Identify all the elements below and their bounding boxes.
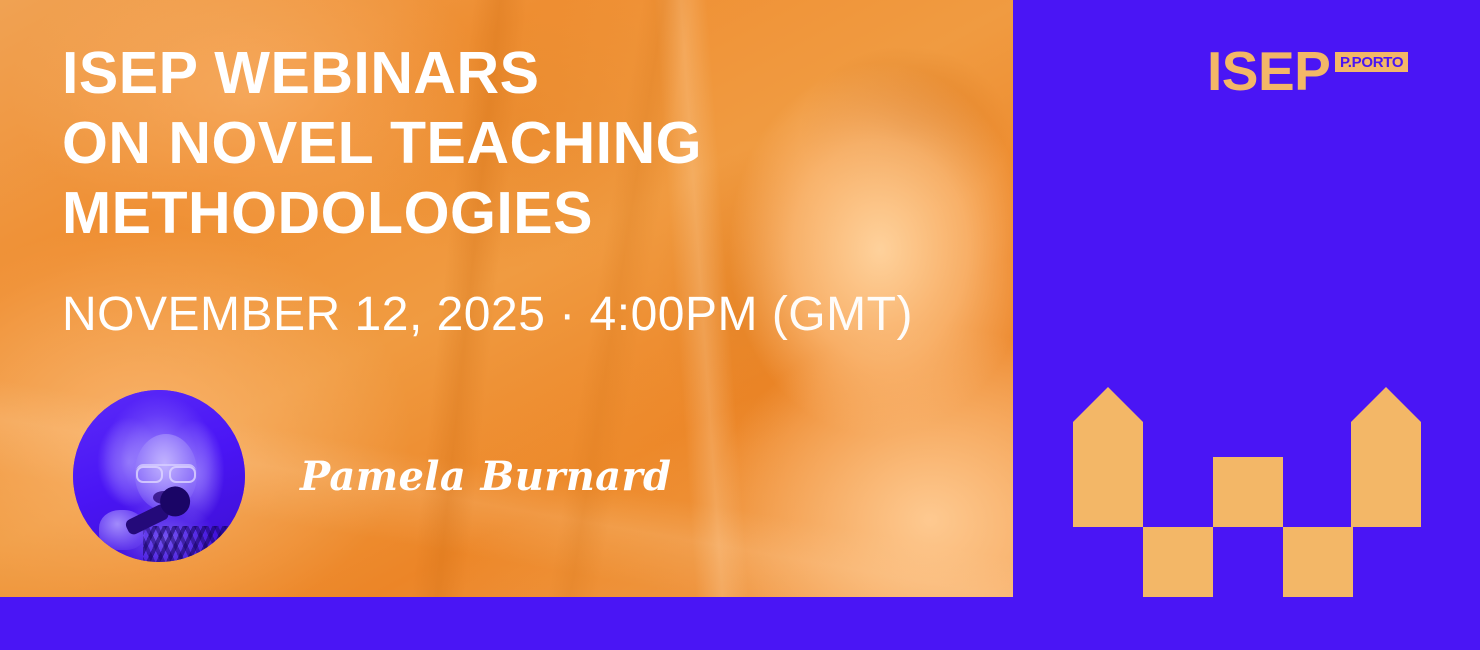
headline-line-1: ISEP WEBINARS [62,38,882,108]
bottom-bar [0,597,1013,650]
event-timezone: (GMT) [772,288,913,341]
avatar-garment-pattern [143,526,235,562]
avatar [73,390,245,562]
square-mid-top-shape [1213,457,1283,527]
page-title: ISEP WEBINARS ON NOVEL TEACHING METHODOL… [62,38,882,248]
event-datetime: NOVEMBER 12, 2025 · 4:00PM (GMT) [62,288,913,342]
house-pattern-graphic [1013,0,1480,650]
speaker-name: Pamela Burnard [300,453,671,500]
square-bottom-right-shape [1283,527,1353,597]
brand-panel: ISEP P.PORTO [1013,0,1480,650]
webinar-banner: ISEP WEBINARS ON NOVEL TEACHING METHODOL… [0,0,1480,650]
square-bottom-left-shape [1143,527,1213,597]
house-left-shape [1073,387,1143,527]
glasses-icon [136,464,196,479]
headline-line-2: ON NOVEL TEACHING [62,108,882,178]
event-date-time: NOVEMBER 12, 2025 · 4:00PM [62,288,758,341]
headline-line-3: METHODOLOGIES [62,178,882,248]
house-right-shape [1351,387,1421,527]
speaker-block: Pamela Burnard [73,390,671,562]
